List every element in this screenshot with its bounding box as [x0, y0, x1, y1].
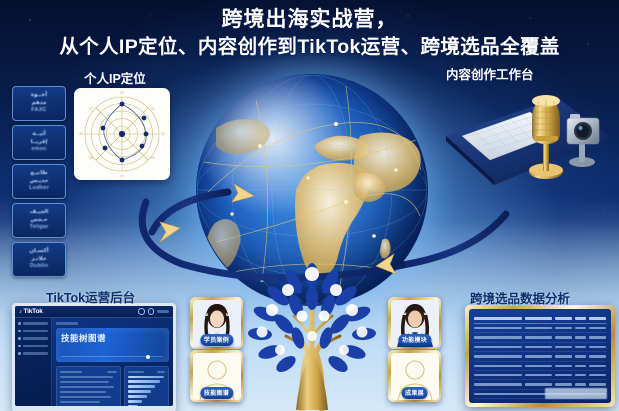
table-row[interactable]	[474, 362, 606, 371]
cell-category	[525, 383, 552, 385]
cell-rating	[575, 346, 586, 348]
bar-item	[128, 405, 138, 406]
cell-rating	[575, 355, 586, 357]
mini-badge-1-line2: مدهم	[32, 100, 47, 107]
cell-rating	[575, 327, 586, 329]
mini-badge-3-line1: طانيـع	[30, 170, 47, 177]
sidebar-item-3-label	[23, 337, 49, 340]
cell-conversion	[589, 336, 606, 338]
column-header-sales	[555, 317, 572, 319]
bar-chart-header	[128, 371, 165, 373]
cell-sales	[555, 383, 572, 385]
bar-chart-title	[128, 371, 144, 373]
section-label-tiktok-backend: TikTok运营后台	[46, 287, 135, 306]
bar-chart-meta	[157, 371, 165, 373]
bullet-icon	[18, 345, 21, 348]
bar-item	[128, 376, 163, 378]
cell-rating	[575, 336, 586, 338]
svg-text:05: 05	[89, 156, 93, 160]
list-card-meta	[107, 371, 117, 373]
tiktok-main-content: 技能树图谱	[52, 318, 173, 406]
cell-conversion	[589, 355, 606, 357]
bullet-icon	[18, 337, 21, 340]
cell-sales	[555, 355, 572, 357]
hero-panel: 技能树图谱	[56, 328, 169, 362]
mini-badge-5-line3: Dublin	[30, 263, 48, 270]
mini-badge-3[interactable]: طانيـع حديـس Lodher	[12, 164, 66, 199]
column-header-rating	[575, 317, 586, 319]
avatar-tag-2: 技能图谱	[200, 387, 233, 399]
list-row	[60, 401, 100, 403]
tiktok-topbar-actions	[138, 308, 169, 315]
cell-conversion	[589, 383, 606, 385]
bar-item	[128, 385, 155, 387]
tiktok-dashboard-screen: ♪ TikTok	[15, 306, 173, 406]
list-card-title	[60, 371, 82, 373]
data-analysis-table-frame[interactable]	[465, 305, 615, 407]
sidebar-item-2-label	[23, 330, 49, 333]
bar-item	[128, 380, 160, 382]
list-card[interactable]	[56, 366, 121, 406]
sidebar-item-2[interactable]	[18, 330, 48, 333]
search-icon[interactable]	[138, 308, 145, 315]
title-line-2: 从个人IP定位、内容创作到TikTok运营、跨境选品全覆盖	[0, 35, 619, 60]
column-header-product	[474, 317, 522, 319]
cell-rating	[575, 383, 586, 385]
mini-badge-4-line2: حـجص	[30, 217, 47, 224]
table-row[interactable]	[474, 352, 606, 361]
avatar-tag-3: 功能模块	[398, 334, 431, 346]
mini-badge-1-line3: FAXC	[31, 107, 46, 114]
mini-badge-3-line2: حديـس	[30, 178, 49, 185]
breadcrumb	[56, 322, 78, 325]
avatar-tag-1: 学员案例	[200, 334, 233, 346]
svg-text:02: 02	[161, 132, 165, 136]
svg-text:04: 04	[120, 174, 124, 178]
cell-sales	[555, 336, 572, 338]
mini-badge-1-line1: أخــوة	[31, 92, 47, 99]
cell-category	[525, 346, 552, 348]
table-header-row	[474, 314, 606, 324]
content-studio-desk	[434, 84, 610, 196]
bullet-icon	[18, 352, 21, 355]
cell-product	[474, 355, 522, 357]
table-row[interactable]	[474, 371, 606, 380]
sidebar-item-5-label	[23, 352, 49, 355]
list-row	[60, 386, 114, 388]
skill-tree-graphic	[236, 262, 388, 411]
sidebar-item-1[interactable]	[18, 322, 48, 325]
bar-item	[128, 390, 151, 392]
cell-product	[474, 374, 522, 376]
sidebar-item-1-label	[23, 322, 49, 325]
cell-category	[525, 374, 552, 376]
music-note-icon: ♪	[19, 309, 22, 315]
svg-text:07: 07	[89, 107, 93, 111]
section-label-data-analysis: 跨境选品数据分析	[470, 288, 570, 307]
tiktok-logo[interactable]: ♪ TikTok	[19, 308, 43, 315]
gear-icon[interactable]	[148, 308, 155, 315]
cell-product	[474, 365, 522, 367]
avatar-card-feature-module[interactable]: 功能模块	[388, 297, 441, 349]
list-row	[60, 391, 106, 393]
cell-category	[525, 355, 552, 357]
mini-badge-4[interactable]: الجيـف حـجص Teligar	[12, 203, 66, 238]
poster-canvas: 跨境出海实战营， 从个人IP定位、内容创作到TikTok运营、跨境选品全覆盖 个…	[0, 0, 619, 411]
cell-conversion	[589, 346, 606, 348]
svg-text:01: 01	[151, 107, 155, 111]
tiktok-topbar: ♪ TikTok	[15, 306, 173, 318]
cell-conversion	[589, 374, 606, 376]
mini-badge-2[interactable]: أثيــة إقريــا emoc	[12, 125, 66, 160]
bar-item	[128, 395, 146, 397]
svg-text:00: 00	[120, 91, 124, 95]
column-header-category	[525, 317, 552, 319]
section-label-personal-ip: 个人IP定位	[84, 68, 146, 87]
tiktok-dashboard-mockup[interactable]: ♪ TikTok	[12, 303, 176, 411]
cell-sales	[555, 374, 572, 376]
cell-category	[525, 365, 552, 367]
table-row[interactable]	[474, 333, 606, 342]
title-line-1: 跨境出海实战营，	[0, 8, 619, 32]
data-analysis-table	[469, 309, 611, 403]
tiktok-card-row	[56, 366, 169, 406]
left-badge-stack: أخــوة مدهم FAXC أثيــة إقريــا emoc طان…	[12, 86, 64, 281]
table-row[interactable]	[474, 324, 606, 333]
mini-badge-2-line2: إقريــا	[31, 139, 48, 146]
tree-svg	[236, 262, 388, 411]
svg-text:03: 03	[151, 156, 155, 160]
selection-highlight	[545, 388, 607, 399]
cell-category	[525, 327, 552, 329]
mini-badge-5-line1: أكسـان	[29, 248, 48, 255]
cell-sales	[555, 327, 572, 329]
cell-product	[474, 327, 522, 329]
bar-item	[128, 400, 142, 402]
avatar-card-skill-map[interactable]: 技能图谱	[190, 350, 243, 402]
tiktok-body: 技能树图谱	[15, 318, 173, 406]
account-menu[interactable]	[157, 310, 169, 314]
mini-badge-5-line2: حلاتـز	[31, 256, 47, 263]
list-row	[60, 381, 109, 383]
cell-product	[474, 346, 522, 348]
radar-chart: 000102 030405 0607	[74, 88, 170, 180]
cell-rating	[575, 365, 586, 367]
cell-product	[474, 383, 522, 385]
progress-knob[interactable]	[146, 355, 150, 359]
poster-title: 跨境出海实战营， 从个人IP定位、内容创作到TikTok运营、跨境选品全覆盖	[0, 8, 619, 60]
cell-sales	[555, 365, 572, 367]
svg-text:06: 06	[79, 132, 83, 136]
hero-title: 技能树图谱	[61, 332, 164, 344]
section-label-content-studio: 内容创作工作台	[446, 64, 534, 83]
desk-scene	[434, 84, 610, 196]
mini-badge-4-line1: الجيـف	[30, 209, 49, 216]
mini-badge-3-line3: Lodher	[29, 185, 49, 192]
tiktok-logo-text: TikTok	[24, 308, 43, 315]
cell-conversion	[589, 365, 606, 367]
sidebar-item-5[interactable]	[18, 352, 48, 355]
mini-badge-5[interactable]: أكسـان حلاتـز Dublin	[12, 242, 66, 277]
column-header-conversion	[589, 317, 606, 319]
table-row[interactable]	[474, 343, 606, 352]
sidebar-item-3[interactable]	[18, 337, 48, 340]
bullet-icon	[18, 322, 21, 325]
list-card-header	[60, 371, 117, 373]
cell-rating	[575, 374, 586, 376]
avatar-tag-4: 成果展	[401, 387, 428, 399]
cell-sales	[555, 346, 572, 348]
tiktok-sidebar	[15, 318, 52, 406]
bar-chart-card[interactable]	[124, 366, 169, 406]
sidebar-item-4[interactable]	[18, 345, 48, 348]
sidebar-item-4-label	[23, 345, 49, 348]
mini-badge-4-line3: Teligar	[29, 224, 48, 231]
list-row	[60, 396, 111, 398]
list-row	[60, 376, 113, 378]
cell-category	[525, 336, 552, 338]
avatar-card-student-case[interactable]: 学员案例	[190, 297, 243, 349]
mini-badge-1[interactable]: أخــوة مدهم FAXC	[12, 86, 66, 121]
avatar-card-results[interactable]: 成果展	[388, 350, 441, 402]
mini-badge-2-line1: أثيــة	[32, 131, 45, 138]
cell-product	[474, 336, 522, 338]
radar-chart-card[interactable]: 000102 030405 0607	[74, 88, 170, 180]
mini-badge-2-line3: emoc	[31, 146, 46, 153]
cell-conversion	[589, 327, 606, 329]
bullet-icon	[18, 330, 21, 333]
